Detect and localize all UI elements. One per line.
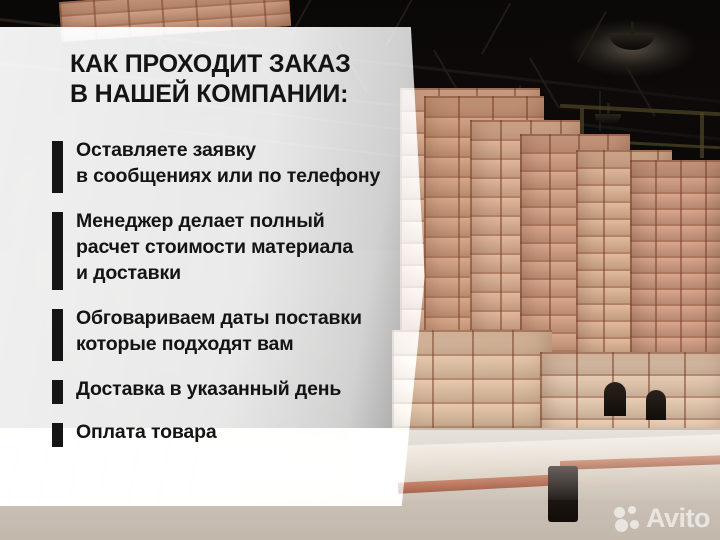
bullet-marker <box>52 380 63 404</box>
bullet-marker <box>52 309 63 361</box>
pallet-opening <box>646 390 666 420</box>
list-item-label: Оставляете заявку в сообщениях или по те… <box>76 138 380 190</box>
panel-content: КАК ПРОХОДИТ ЗАКАЗ В НАШЕЙ КОМПАНИИ: Ост… <box>0 0 460 540</box>
avito-watermark: Avito <box>614 505 710 532</box>
avito-watermark-label: Avito <box>646 505 710 532</box>
bullet-marker <box>52 423 63 447</box>
list-item-label: Обговариваем даты поставки которые подхо… <box>76 306 362 358</box>
bullet-marker <box>52 212 63 290</box>
list-item: Менеджер делает полный расчет стоимости … <box>52 209 452 290</box>
pallet-opening <box>548 466 578 522</box>
list-item: Оплата товара <box>52 420 452 447</box>
list-item-label: Менеджер делает полный расчет стоимости … <box>76 209 353 287</box>
list-item: Обговариваем даты поставки которые подхо… <box>52 306 452 361</box>
bullet-marker <box>52 141 63 193</box>
list-item: Доставка в указанный день <box>52 377 452 404</box>
list-item-label: Оплата товара <box>76 420 217 446</box>
promo-banner: КАК ПРОХОДИТ ЗАКАЗ В НАШЕЙ КОМПАНИИ: Ост… <box>0 0 720 540</box>
list-item: Оставляете заявку в сообщениях или по те… <box>52 138 452 193</box>
avito-dots-icon <box>614 506 640 532</box>
page-title: КАК ПРОХОДИТ ЗАКАЗ В НАШЕЙ КОМПАНИИ: <box>70 49 351 109</box>
steps-list: Оставляете заявку в сообщениях или по те… <box>52 138 452 463</box>
pallet-opening <box>604 382 626 416</box>
list-item-label: Доставка в указанный день <box>76 377 341 403</box>
